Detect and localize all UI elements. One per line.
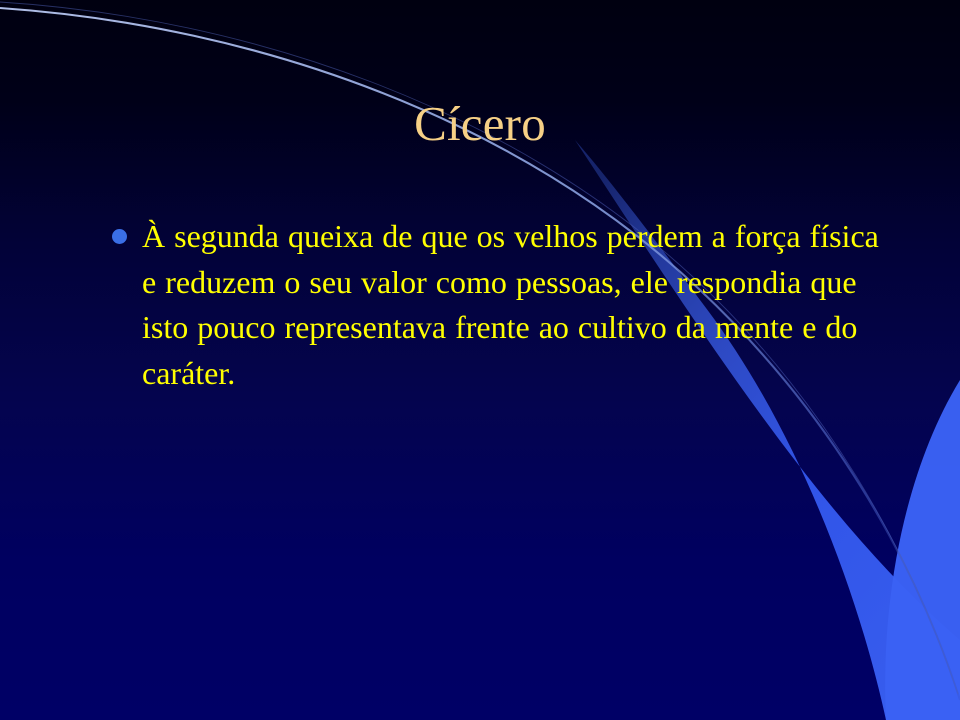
slide-title: Cícero	[0, 96, 960, 152]
disc-bullet-icon	[112, 229, 127, 244]
list-item: À segunda queixa de que os velhos perdem…	[104, 214, 894, 396]
slide-content: Cícero À segunda queixa de que os velhos…	[0, 0, 960, 720]
bullet-text: À segunda queixa de que os velhos perdem…	[142, 214, 894, 396]
presentation-slide: Cícero À segunda queixa de que os velhos…	[0, 0, 960, 720]
slide-body: À segunda queixa de que os velhos perdem…	[104, 214, 894, 396]
